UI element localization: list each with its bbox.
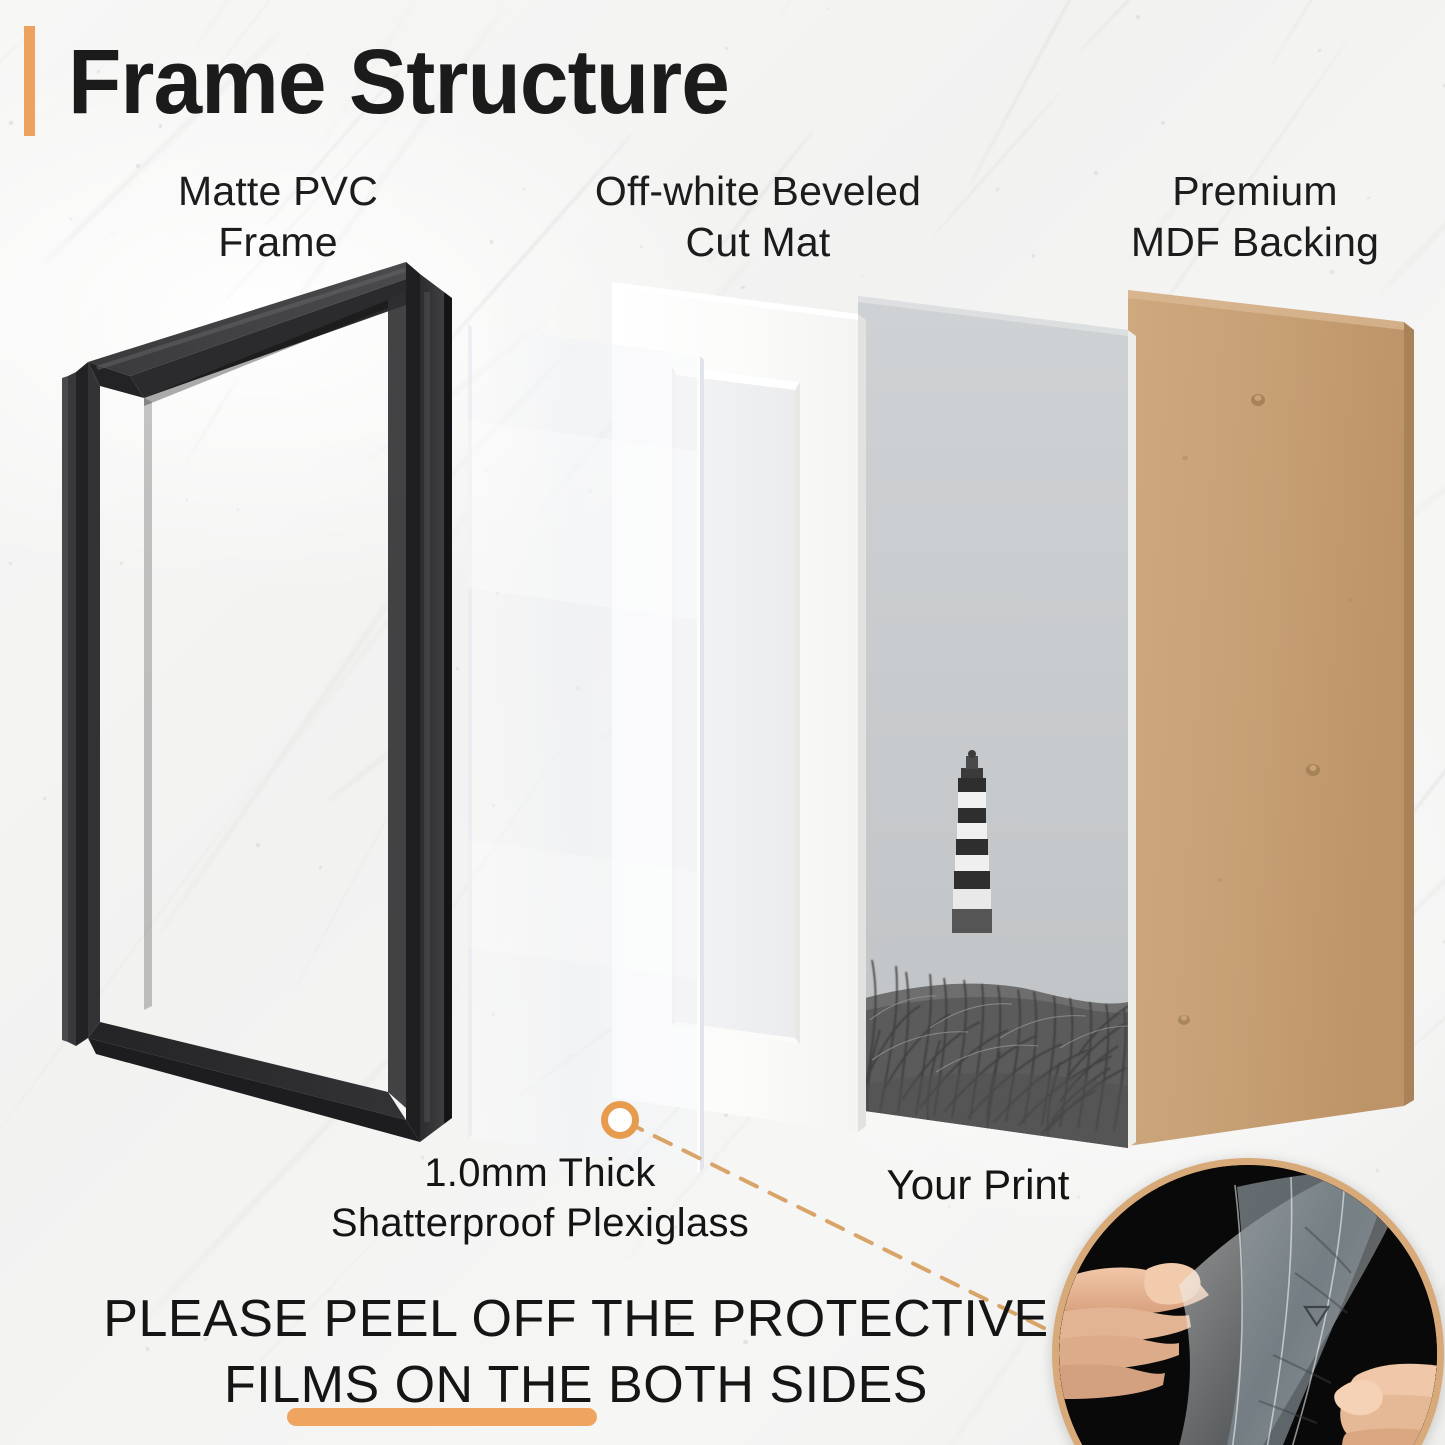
layer-print [858,296,1136,1150]
warning-text: PLEASE PEEL OFF THE PROTECTIVE FILMS ON … [96,1286,1056,1418]
title-accent-bar [24,26,35,136]
label-matte-pvc-frame: Matte PVC Frame [128,166,428,268]
layer-pvc-frame [62,262,452,1142]
layer-plexiglass [468,324,704,1172]
label-premium-mdf-backing: Premium MDF Backing [1090,166,1420,268]
layer-mdf-backing [1128,290,1414,1146]
warning-line-2: FILMS ON THE BOTH SIDES [224,1352,928,1418]
label-off-white-beveled-cut-mat: Off-white Beveled Cut Mat [548,166,968,268]
label-shatterproof-plexiglass: 1.0mm Thick Shatterproof Plexiglass [250,1148,830,1248]
callout-dot-marker [601,1101,639,1139]
warning-line-1: PLEASE PEEL OFF THE PROTECTIVE [96,1286,1056,1352]
infographic-canvas: Frame Structure Matte PVC Frame Off-whit… [0,0,1445,1445]
page-title: Frame Structure [68,26,729,138]
label-your-print: Your Print [848,1160,1108,1210]
